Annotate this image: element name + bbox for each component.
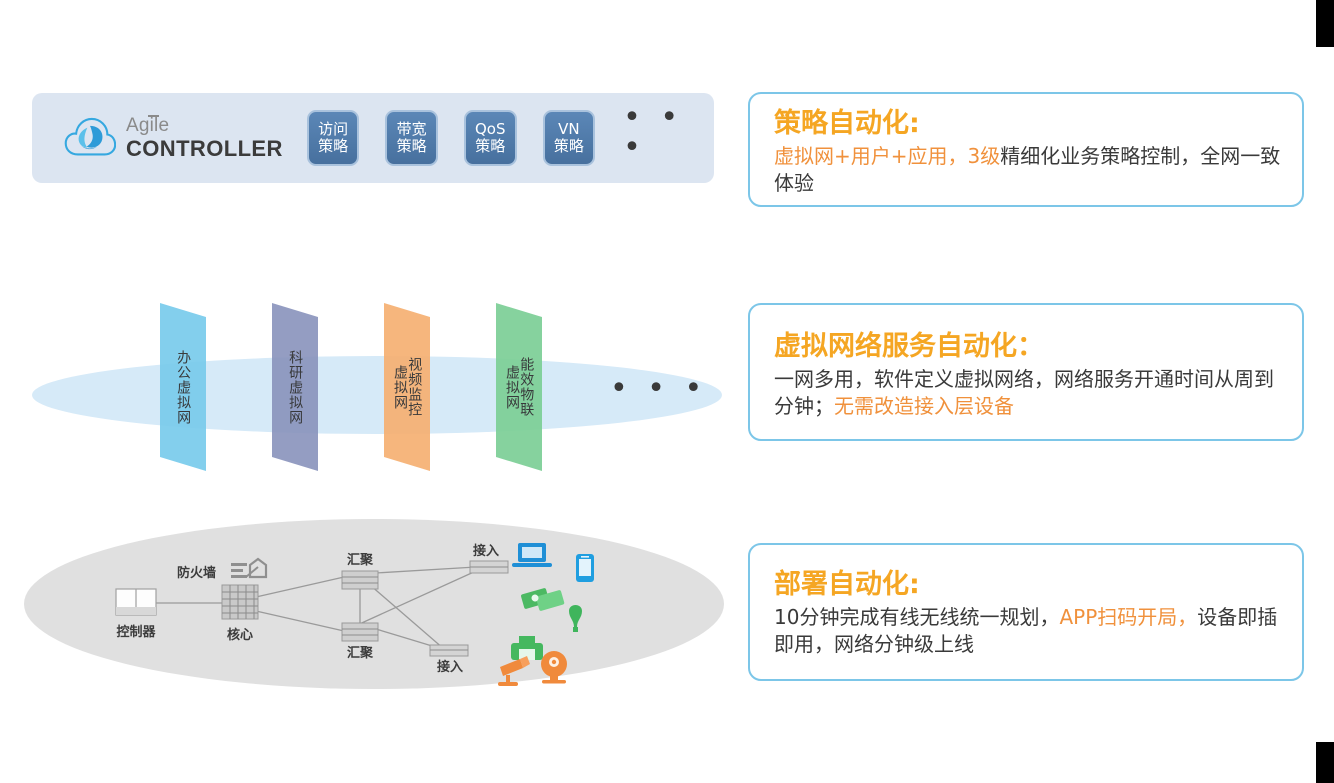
vnet-slab-label-col: 虚拟网 <box>393 365 407 410</box>
cctv-camera-icon <box>498 656 530 686</box>
virtual-network-diagram: 办公虚拟网 科研虚拟网 视频监控 虚拟网 能效物联 虚拟网 • • • <box>32 288 722 493</box>
policy-label-line1: 访问 <box>318 121 348 138</box>
policy-label-line2: 策略 <box>475 138 505 155</box>
policy-button-bandwidth[interactable]: 带宽 策略 <box>385 110 438 166</box>
feature-card-body: 虚拟网+用户+应用，3级精细化业务策略控制，全网一致体验 <box>774 143 1282 197</box>
feature-card-body: 一网多用，软件定义虚拟网络，网络服务开通时间从周到分钟；无需改造接入层设备 <box>774 366 1282 420</box>
feature-body-rest: 10分钟完成有线无线统一规划， <box>774 605 1059 629</box>
topology-node-core[interactable]: 核心 <box>222 585 258 643</box>
logo-wordmark: Agile CONTROLLER <box>126 116 283 160</box>
topology-label-controller: 控制器 <box>116 624 156 640</box>
feature-card-virtual-network-service-automation: 虚拟网络服务自动化： 一网多用，软件定义虚拟网络，网络服务开通时间从周到分钟；无… <box>748 303 1304 441</box>
vnet-slab-label: 视频监控 虚拟网 <box>384 303 430 471</box>
vnet-slab-label-col: 能效物联 <box>519 357 533 417</box>
topology-node-access-bottom[interactable]: 接入 <box>430 645 468 675</box>
topology-label-aggregation-bottom: 汇聚 <box>347 646 374 661</box>
topology-label-aggregation-top: 汇聚 <box>347 553 374 568</box>
policy-button-row: 访问 策略 带宽 策略 QoS 策略 VN 策略 • • • <box>307 110 714 166</box>
logo-agile-label: Agile <box>126 115 169 136</box>
banknote-icon <box>521 588 565 612</box>
policy-more-ellipsis-icon[interactable]: • • • <box>623 103 714 163</box>
policy-label-line2: 策略 <box>397 138 427 155</box>
feature-body-highlight: 无需改造接入层设备 <box>834 394 1014 418</box>
agile-controller-panel: Agile CONTROLLER 访问 策略 带宽 策略 QoS 策略 VN 策… <box>32 93 714 183</box>
vnet-slab-video-surveillance: 视频监控 虚拟网 <box>384 303 430 471</box>
topology-label-access-bottom: 接入 <box>437 659 463 675</box>
policy-button-vn[interactable]: VN 策略 <box>543 110 596 166</box>
vnet-slab-label-col: 虚拟网 <box>505 365 519 410</box>
feature-body-highlight: APP扫码开局， <box>1059 605 1197 629</box>
topology-node-aggregation-bottom[interactable]: 汇聚 <box>342 623 378 661</box>
vnet-slab-label-col: 视频监控 <box>407 357 421 417</box>
vnet-slab-label-col: 科研虚拟网 <box>288 350 302 425</box>
agile-controller-logo: Agile CONTROLLER <box>64 115 293 161</box>
feature-card-title: 部署自动化: <box>774 569 1282 600</box>
vnet-slab-label-col: 办公虚拟网 <box>176 350 190 425</box>
topology-label-access-top: 接入 <box>473 543 499 559</box>
topology-node-aggregation-top[interactable]: 汇聚 <box>342 553 378 589</box>
feature-card-title: 策略自动化: <box>774 108 1282 139</box>
topology-node-controller[interactable]: 控制器 <box>116 589 156 640</box>
feature-card-title: 虚拟网络服务自动化： <box>774 331 1282 362</box>
policy-label-line2: 策略 <box>554 138 584 155</box>
laptop-icon <box>512 543 552 567</box>
edge-bar-bottom <box>1316 742 1334 783</box>
logo-controller-text: CONTROLLER <box>126 138 283 160</box>
edge-bar-top <box>1316 0 1334 47</box>
tablet-icon <box>576 554 594 582</box>
policy-label-line2: 策略 <box>318 138 348 155</box>
webcam-icon <box>541 651 567 684</box>
logo-agile-text: Agile <box>126 116 169 135</box>
topology-graphic: 控制器 防火墙 <box>24 519 724 689</box>
network-topology-diagram: 控制器 防火墙 <box>24 519 724 689</box>
vnet-slab-label: 科研虚拟网 <box>272 303 318 471</box>
feature-card-deployment-automation: 部署自动化: 10分钟完成有线无线统一规划，APP扫码开局，设备即插即用，网络分… <box>748 543 1304 681</box>
vnet-more-ellipsis-icon[interactable]: • • • <box>610 374 707 404</box>
vnet-slab-energy-iot: 能效物联 虚拟网 <box>496 303 542 471</box>
feature-card-body: 10分钟完成有线无线统一规划，APP扫码开局，设备即插即用，网络分钟级上线 <box>774 604 1282 658</box>
policy-label-line1: QoS <box>475 121 506 138</box>
topology-node-access-top[interactable]: 接入 <box>470 543 508 573</box>
feature-card-policy-automation: 策略自动化: 虚拟网+用户+应用，3级精细化业务策略控制，全网一致体验 <box>748 92 1304 207</box>
vnet-slab-label: 办公虚拟网 <box>160 303 206 471</box>
macron-mark <box>148 115 159 117</box>
policy-button-access[interactable]: 访问 策略 <box>307 110 360 166</box>
feature-body-highlight: 虚拟网+用户+应用，3级 <box>774 144 1000 168</box>
topology-node-firewall[interactable]: 防火墙 <box>177 559 266 581</box>
policy-label-line1: VN <box>558 121 579 138</box>
cloud-swirl-icon <box>64 115 116 161</box>
policy-label-line1: 带宽 <box>397 121 427 138</box>
topology-label-core: 核心 <box>227 627 253 643</box>
vnet-slab-research: 科研虚拟网 <box>272 303 318 471</box>
vnet-slab-label: 能效物联 虚拟网 <box>496 303 542 471</box>
topology-label-firewall: 防火墙 <box>177 565 216 581</box>
lamp-icon <box>569 605 582 632</box>
policy-button-qos[interactable]: QoS 策略 <box>464 110 517 166</box>
vnet-slab-office: 办公虚拟网 <box>160 303 206 471</box>
